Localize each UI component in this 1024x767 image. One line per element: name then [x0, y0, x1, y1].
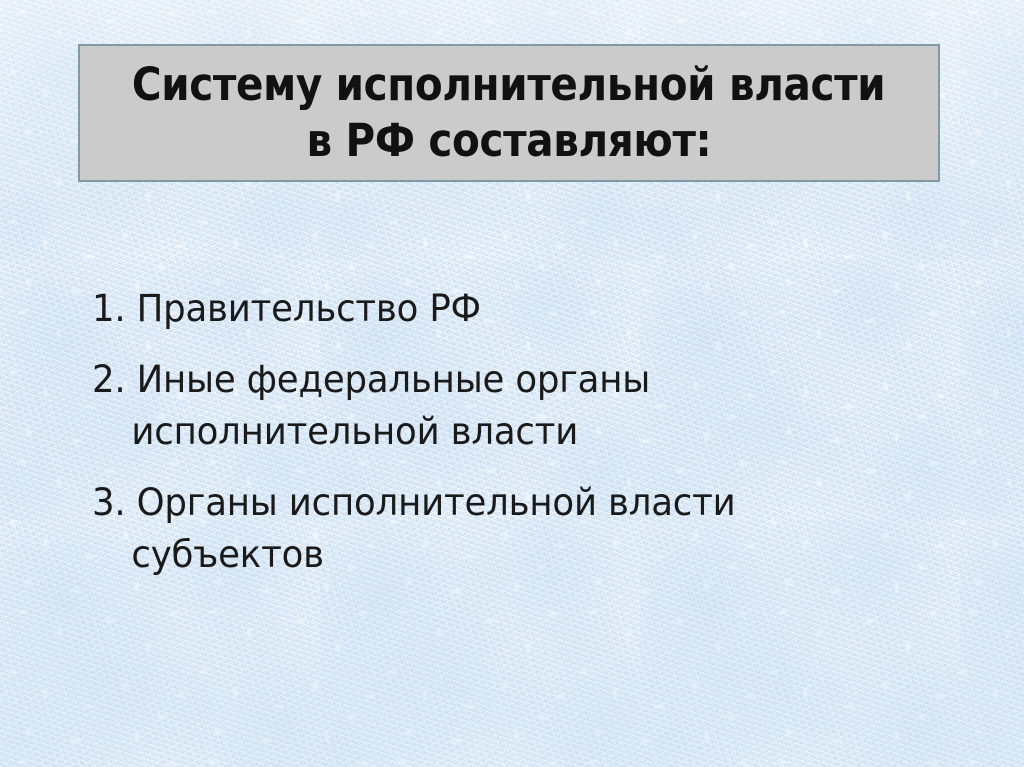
- list-item: 1. Правительство РФ: [92, 283, 890, 335]
- list-item: 3. Органы исполнительной власти субъекто…: [92, 477, 890, 581]
- slide-title-box: Систему исполнительной власти в РФ соста…: [78, 44, 940, 182]
- slide-body-list: 1. Правительство РФ 2. Иные федеральные …: [92, 283, 952, 581]
- slide-canvas: Систему исполнительной власти в РФ соста…: [0, 0, 1024, 767]
- list-item: 2. Иные федеральные органы исполнительно…: [92, 354, 890, 458]
- slide-title-line-1: Систему исполнительной власти: [132, 57, 885, 113]
- slide-title-line-2: в РФ составляют:: [307, 113, 712, 169]
